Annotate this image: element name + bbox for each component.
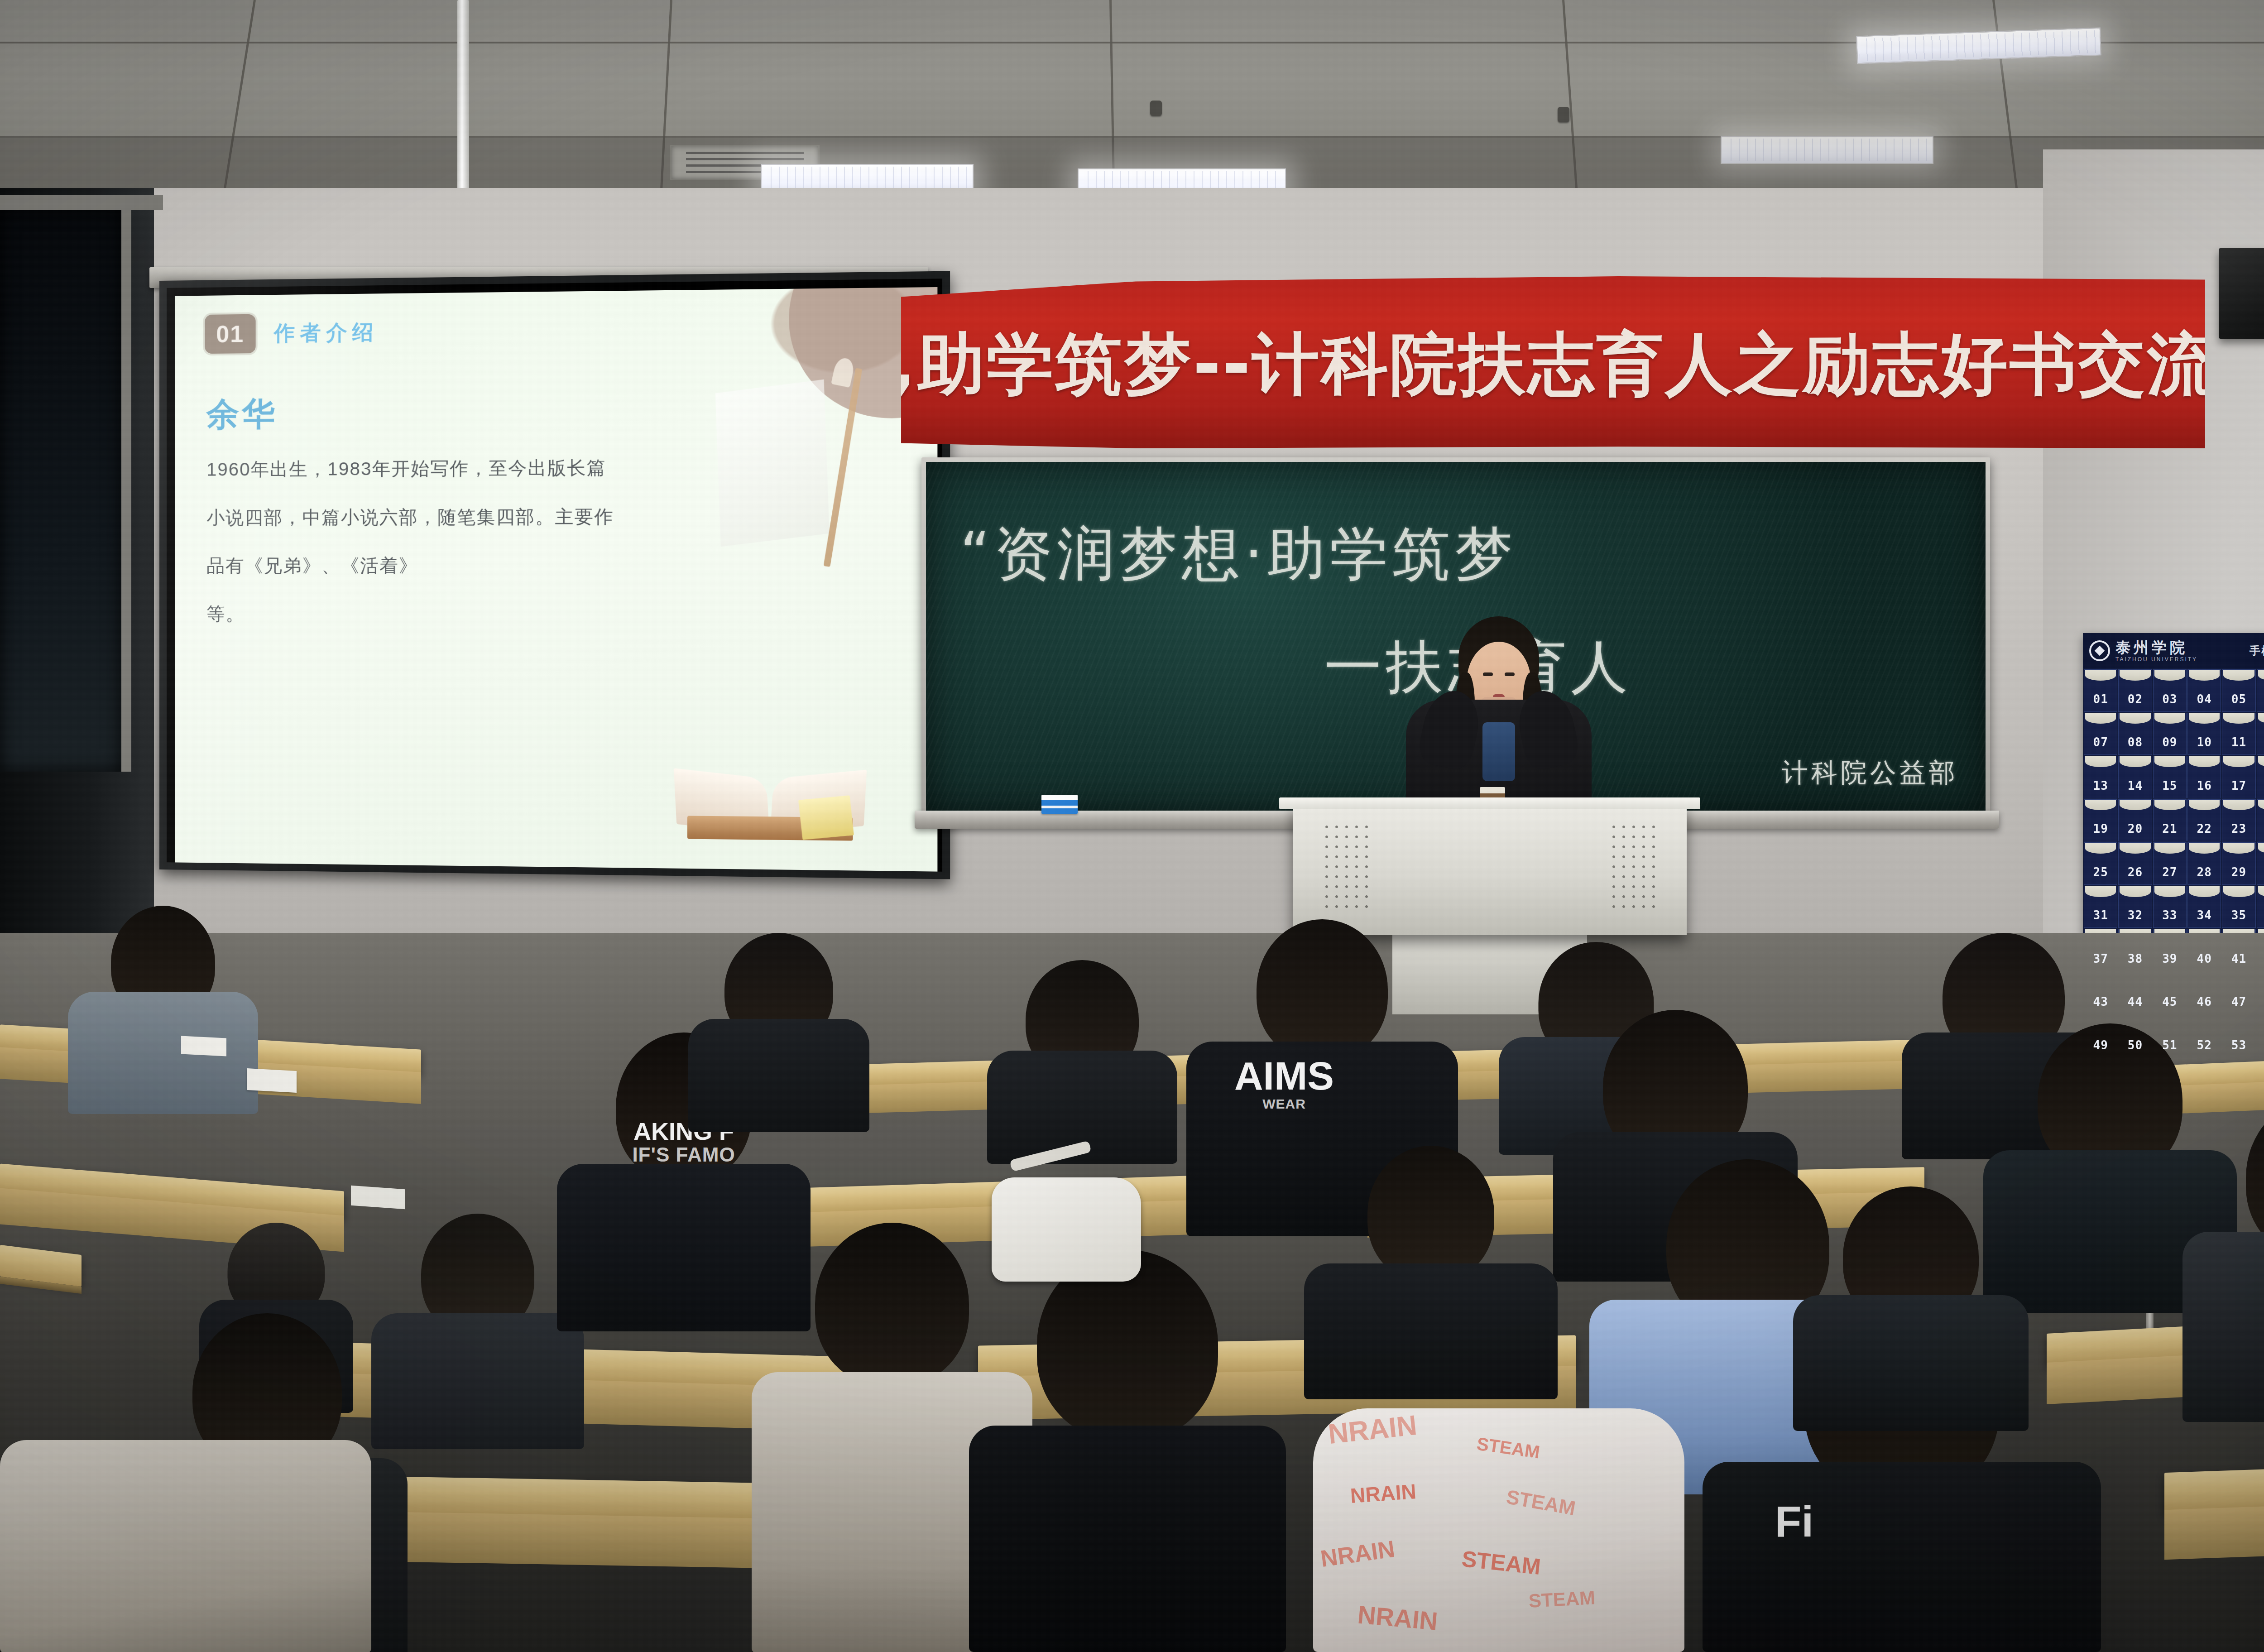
phone-pocket-label: 34 — [2197, 908, 2212, 927]
student — [969, 1250, 1286, 1652]
university-name-cn: 泰州学院 — [2115, 640, 2197, 655]
phone-pocket-label: 04 — [2197, 692, 2212, 711]
phone-pocket-label: 28 — [2197, 865, 2212, 884]
student-torso — [1703, 1462, 2101, 1652]
nrain-print-word: NRAIN — [1357, 1600, 1439, 1636]
phone-pocket[interactable]: 16 — [2187, 756, 2221, 798]
phone-pocket-label: 19 — [2093, 822, 2108, 841]
presenter-scarf — [1482, 722, 1515, 781]
phone-pocket[interactable]: 07 — [2084, 713, 2117, 755]
window-frame — [0, 195, 163, 210]
slide-body: 1960年出生，1983年开始写作，至今出版长篇 小说四部，中篇小说六部，随笔集… — [206, 443, 679, 639]
university-name-en: TAIZHOU UNIVERSITY — [2115, 657, 2197, 662]
phone-pocket[interactable]: 11 — [2222, 713, 2255, 755]
phone-pocket-label: 49 — [2093, 1038, 2108, 1057]
student — [68, 906, 258, 1114]
jacket-text-line2: WEAR — [1234, 1097, 1334, 1111]
phone-pocket[interactable]: 21 — [2153, 799, 2187, 842]
phone-pocket-label: 44 — [2128, 995, 2143, 1014]
jacket-text-line2: IF'S FAMO — [632, 1144, 735, 1165]
phone-pocket[interactable]: 34 — [2187, 886, 2221, 928]
classroom-scene: 01 作者介绍 余华 1960年出生，1983年开始写作，至今出版长篇 小说四部… — [0, 0, 2264, 1652]
jacket-text-line1: AIMS — [1234, 1053, 1334, 1098]
university-logo-icon — [2089, 640, 2110, 661]
phone-pocket-label: 43 — [2093, 995, 2108, 1014]
presentation-slide: 01 作者介绍 余华 1960年出生，1983年开始写作，至今出版长篇 小说四部… — [175, 287, 937, 872]
phone-pocket[interactable]: 36 — [2257, 886, 2264, 928]
phone-pocket-label: 35 — [2231, 908, 2246, 927]
phone-pocket[interactable]: 03 — [2153, 669, 2187, 712]
student — [987, 960, 1177, 1164]
student — [0, 1440, 371, 1652]
phone-pocket[interactable]: 04 — [2187, 669, 2221, 712]
phone-pocket[interactable]: 15 — [2153, 756, 2187, 798]
phone-pocket-label: 07 — [2093, 735, 2108, 754]
phone-pocket-label: 46 — [2197, 995, 2212, 1014]
phone-pocket[interactable]: 08 — [2118, 713, 2152, 755]
nrain-print-word: NRAIN — [1349, 1479, 1417, 1508]
phone-pocket-label: 20 — [2128, 822, 2143, 841]
phone-pocket-label: 10 — [2197, 735, 2212, 754]
student-head — [1367, 1146, 1494, 1282]
phone-pocket-label: 37 — [2093, 952, 2108, 971]
phone-pocket[interactable]: 20 — [2118, 799, 2152, 842]
blackboard-signature: 计科院公益部 — [1782, 755, 1958, 791]
slide-body-line: 小说四部，中篇小说六部，随笔集四部。主要作 — [206, 492, 679, 542]
slide-section-title: 作者介绍 — [274, 318, 379, 348]
phone-pocket[interactable]: 18 — [2257, 756, 2264, 798]
phone-pocket-label: 29 — [2231, 865, 2246, 884]
phone-pocket-label: 15 — [2162, 779, 2177, 798]
jacket-text-line1: Fi — [1775, 1497, 1813, 1546]
phone-pocket-label: 40 — [2197, 952, 2212, 971]
slide-section-number: 01 — [205, 314, 256, 354]
phone-pocket[interactable]: 06 — [2257, 669, 2264, 712]
nrain-jacket-print: NRAINSTEAMNRAINSTEAMNRAINSTEAMSTEAMNRAIN — [1313, 1408, 1684, 1652]
slide-body-line: 1960年出生，1983年开始写作，至今出版长篇 — [206, 443, 679, 494]
presenter-eye — [1483, 672, 1493, 676]
phone-pocket[interactable]: 01 — [2084, 669, 2117, 712]
jacket-text: AIMS WEAR — [1234, 1055, 1334, 1111]
phone-pocket-label: 23 — [2231, 822, 2246, 841]
phone-pocket[interactable]: 19 — [2084, 799, 2117, 842]
student — [1304, 1146, 1558, 1399]
phone-pocket-label: 52 — [2197, 1038, 2212, 1057]
event-banner: 想,助学筑梦--计科院扶志育人之励志好书交流会 — [901, 276, 2205, 448]
slide-author-name: 余华 — [206, 392, 278, 436]
phone-pocket-label: 08 — [2128, 735, 2143, 754]
nrain-print-word: NRAIN — [1319, 1535, 1396, 1572]
wall-speaker — [2219, 248, 2264, 339]
phone-pocket-label: 13 — [2093, 779, 2108, 798]
phone-pocket-label: 41 — [2231, 952, 2246, 971]
nrain-print-word: NRAIN — [1327, 1409, 1419, 1450]
phone-pocket[interactable]: 17 — [2222, 756, 2255, 798]
student-torso — [0, 1440, 371, 1652]
phone-pocket-label: 45 — [2162, 995, 2177, 1014]
phone-pocket[interactable]: 24 — [2257, 799, 2264, 842]
ceiling-light — [1721, 136, 1933, 164]
nrain-print-word: STEAM — [1460, 1546, 1542, 1580]
phone-pocket-label: 25 — [2093, 865, 2108, 884]
nrain-print-word: STEAM — [1528, 1587, 1595, 1612]
phone-pocket[interactable]: 10 — [2187, 713, 2221, 755]
phone-pocket[interactable]: 25 — [2084, 842, 2117, 885]
podium[interactable] — [1293, 804, 1687, 935]
phone-pocket-label: 22 — [2197, 822, 2212, 841]
phone-pocket[interactable]: 14 — [2118, 756, 2152, 798]
phone-pocket[interactable]: 31 — [2084, 886, 2117, 928]
smoke-detector-icon — [1150, 101, 1162, 116]
student — [2182, 1096, 2264, 1422]
phone-pocket-label: 14 — [2128, 779, 2143, 798]
phone-pocket[interactable]: 12 — [2257, 713, 2264, 755]
phone-pocket-label: 38 — [2128, 952, 2143, 971]
student-torso — [1793, 1295, 2029, 1431]
slide-body-line: 品有《兄弟》、《活着》 — [206, 541, 679, 590]
phone-pocket[interactable]: 28 — [2187, 842, 2221, 885]
phone-pocket-label: 16 — [2197, 779, 2212, 798]
student-head — [815, 1223, 969, 1386]
phone-pocket[interactable]: 09 — [2153, 713, 2187, 755]
phone-pocket[interactable]: 23 — [2222, 799, 2255, 842]
phone-pocket[interactable]: 30 — [2257, 842, 2264, 885]
phone-board-subtitle: 手机袋 — [2250, 644, 2264, 658]
paper-sheet[interactable] — [247, 1068, 297, 1093]
student-torso: NRAINSTEAMNRAINSTEAMNRAINSTEAMSTEAMNRAIN — [1313, 1408, 1684, 1652]
window-mullion — [121, 210, 131, 772]
phone-pocket-label: 05 — [2231, 692, 2246, 711]
student-torso — [688, 1019, 869, 1132]
phone-pocket-label: 02 — [2128, 692, 2143, 711]
blackboard-line-1: “资润梦想·助学筑梦 — [960, 515, 1517, 594]
phone-pocket-label: 17 — [2231, 779, 2246, 798]
phone-pocket-label: 01 — [2093, 692, 2108, 711]
paper-sheet[interactable] — [351, 1186, 405, 1209]
phone-pocket[interactable]: 26 — [2118, 842, 2152, 885]
phone-pocket[interactable]: 33 — [2153, 886, 2187, 928]
phone-pocket[interactable]: 02 — [2118, 669, 2152, 712]
phone-pocket[interactable]: 35 — [2222, 886, 2255, 928]
slide-body-line: 等。 — [206, 590, 679, 639]
student-torso — [2182, 1232, 2264, 1422]
phone-pocket[interactable]: 05 — [2222, 669, 2255, 712]
phone-pocket[interactable]: 13 — [2084, 756, 2117, 798]
student — [688, 933, 869, 1132]
tote-bag[interactable] — [992, 1177, 1141, 1282]
phone-pocket-label: 26 — [2128, 865, 2143, 884]
jacket-text: Fi — [1775, 1499, 1813, 1545]
phone-pocket-label: 50 — [2128, 1038, 2143, 1057]
window-pane — [0, 210, 121, 772]
projector-mount-pole — [457, 0, 469, 211]
phone-pocket[interactable]: 22 — [2187, 799, 2221, 842]
presenter-eye — [1505, 672, 1515, 676]
phone-board-header: 泰州学院 TAIZHOU UNIVERSITY 手机袋 — [2083, 633, 2264, 668]
phone-pocket-label: 51 — [2162, 1038, 2177, 1057]
phone-pocket-label: 11 — [2231, 735, 2246, 754]
phone-pocket-label: 27 — [2162, 865, 2177, 884]
podium-speaker-grille — [1609, 822, 1658, 908]
chalk-box-icon[interactable] — [1041, 795, 1078, 814]
phone-pocket-label: 32 — [2128, 908, 2143, 927]
phone-pocket-label: 47 — [2231, 995, 2246, 1014]
phone-pocket-label: 39 — [2162, 952, 2177, 971]
podium-top — [1279, 797, 1700, 809]
phone-pocket[interactable]: 27 — [2153, 842, 2187, 885]
phone-pocket-label: 03 — [2162, 692, 2177, 711]
projection-screen[interactable]: 01 作者介绍 余华 1960年出生，1983年开始写作，至今出版长篇 小说四部… — [159, 271, 950, 879]
student — [1793, 1186, 2029, 1431]
student-torso — [68, 992, 258, 1114]
phone-pocket[interactable]: 29 — [2222, 842, 2255, 885]
smoke-detector-icon — [1558, 107, 1569, 122]
nrain-print-word: STEAM — [1505, 1485, 1577, 1520]
slide-decor-paper — [715, 379, 830, 547]
phone-pocket-label: 53 — [2231, 1038, 2246, 1057]
slide-header: 01 作者介绍 — [205, 313, 379, 354]
phone-pocket-label: 33 — [2162, 908, 2177, 927]
student-head — [1257, 919, 1388, 1060]
phone-pocket-label: 09 — [2162, 735, 2177, 754]
podium-speaker-grille — [1322, 822, 1371, 908]
student-torso — [1304, 1263, 1558, 1399]
student-torso — [969, 1426, 1286, 1652]
slide-decor-book-icon — [675, 744, 865, 843]
student-nrain-jacket: NRAINSTEAMNRAINSTEAMNRAINSTEAMSTEAMNRAIN — [1313, 1408, 1684, 1652]
paper-sheet[interactable] — [181, 1036, 226, 1056]
event-banner-text: 想,助学筑梦--计科院扶志育人之励志好书交流会 — [901, 320, 2205, 410]
nrain-print-word: STEAM — [1475, 1433, 1541, 1462]
phone-pocket[interactable]: 32 — [2118, 886, 2152, 928]
phone-pocket-label: 21 — [2162, 822, 2177, 841]
phone-pocket-label: 31 — [2093, 908, 2108, 927]
